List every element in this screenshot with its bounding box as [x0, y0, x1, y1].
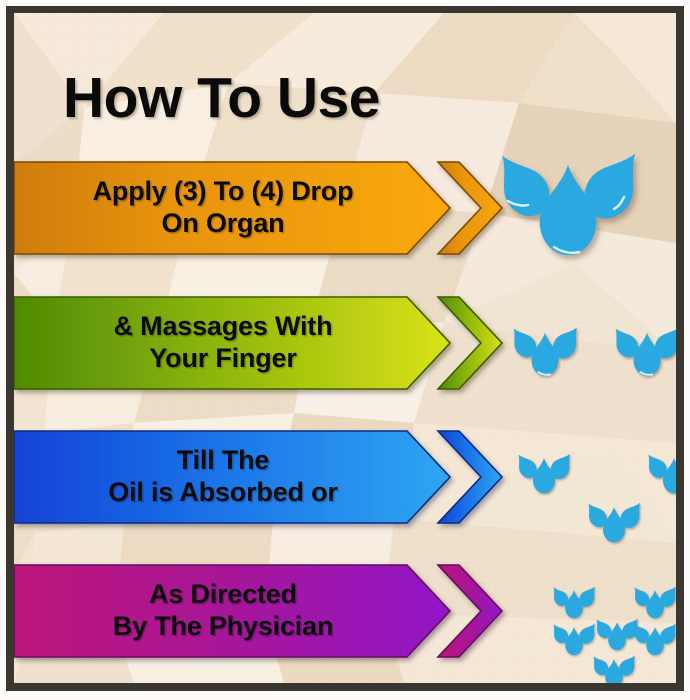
step-row-4: As Directed By The Physician [14, 559, 494, 663]
drop-cluster-row-1 [478, 123, 658, 283]
step-row-3: Till The Oil is Absorbed or [14, 425, 494, 529]
step-banner-3[interactable] [14, 425, 494, 529]
step-row-2: & Massages With Your Finger [14, 291, 494, 395]
drop-cluster-row-2-left [502, 311, 588, 391]
drop-cluster-row-2-right [604, 311, 676, 391]
drop-cluster-row-3-bottom-center [579, 490, 649, 554]
drop-cluster-row-4-6 [586, 645, 642, 683]
step-banner-2[interactable] [14, 291, 494, 395]
poster-canvas: How To Use [14, 13, 676, 683]
drop-cluster-row-3-top-left [509, 441, 579, 505]
how-to-use-infographic: How To Use [0, 0, 690, 700]
step-banner-4[interactable] [14, 559, 494, 663]
step-row-1: Apply (3) To (4) Drop On Organ [14, 156, 494, 260]
step-banner-1[interactable] [14, 156, 494, 260]
page-title: How To Use [63, 65, 380, 131]
